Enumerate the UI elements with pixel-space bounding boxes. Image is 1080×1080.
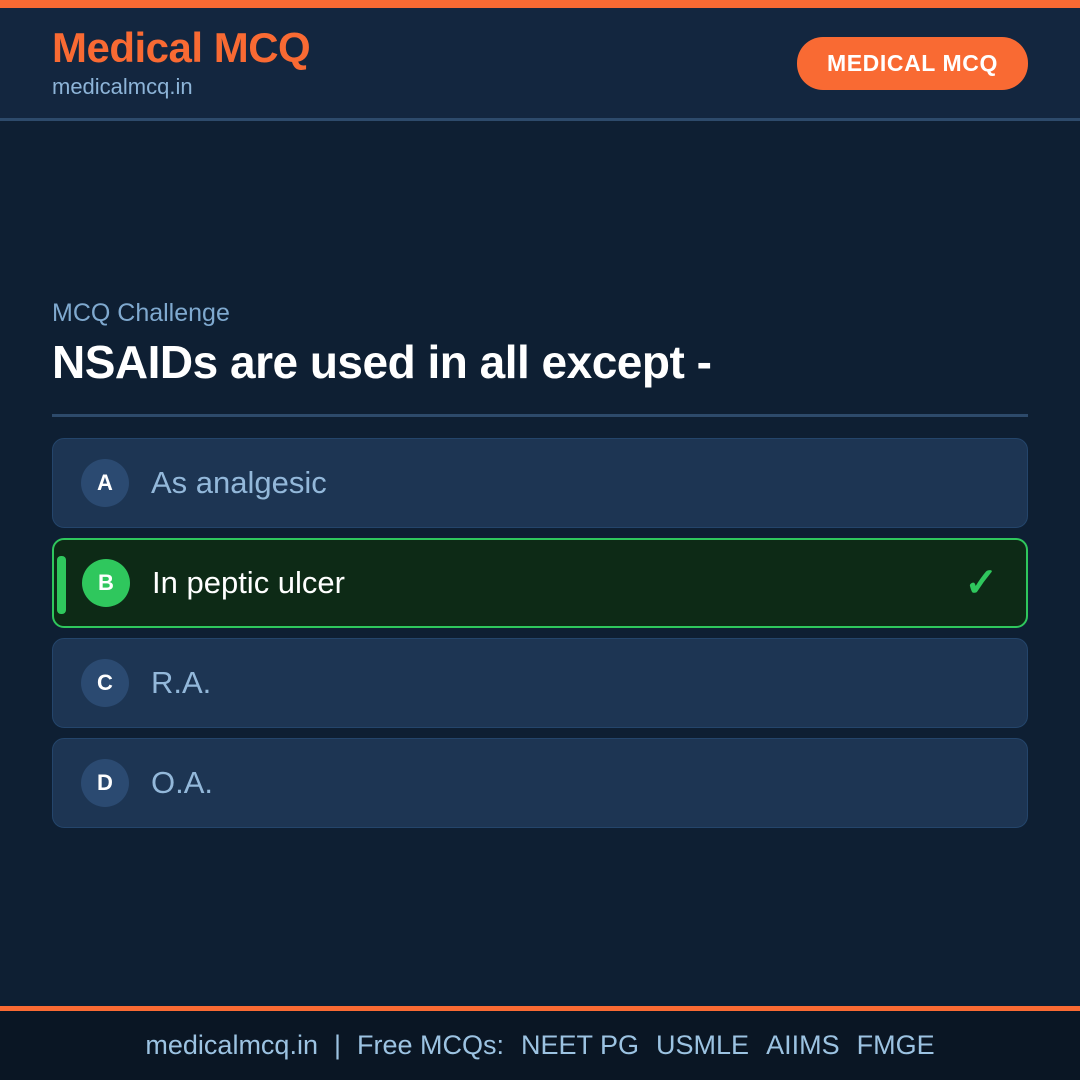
footer-exam-aiims: AIIMS bbox=[766, 1030, 840, 1061]
options-list: A As analgesic B In peptic ulcer ✓ C R.A… bbox=[52, 438, 1028, 828]
option-label: R.A. bbox=[151, 666, 211, 700]
question-divider bbox=[52, 414, 1028, 417]
footer-exam-list: NEET PG USMLE AIIMS FMGE bbox=[521, 1030, 935, 1061]
option-label: As analgesic bbox=[151, 466, 327, 500]
option-label: O.A. bbox=[151, 766, 213, 800]
question-area: MCQ Challenge NSAIDs are used in all exc… bbox=[0, 121, 1080, 1006]
correct-accent-bar bbox=[57, 556, 66, 614]
check-icon: ✓ bbox=[964, 563, 998, 603]
footer-exam-fmge: FMGE bbox=[857, 1030, 935, 1061]
eyebrow-label: MCQ Challenge bbox=[52, 299, 1028, 328]
option-letter-badge: B bbox=[82, 559, 130, 607]
footer-label: Free MCQs: bbox=[357, 1030, 504, 1061]
footer-separator: | bbox=[318, 1030, 357, 1061]
page-footer: medicalmcq.in | Free MCQs: NEET PG USMLE… bbox=[0, 1011, 1080, 1080]
option-label: In peptic ulcer bbox=[152, 566, 345, 600]
footer-site: medicalmcq.in bbox=[145, 1030, 318, 1061]
option-letter-badge: D bbox=[81, 759, 129, 807]
mcq-card: Medical MCQ medicalmcq.in MEDICAL MCQ MC… bbox=[0, 0, 1080, 1080]
brand-badge: MEDICAL MCQ bbox=[797, 37, 1028, 90]
footer-exam-usmle: USMLE bbox=[656, 1030, 749, 1061]
question-text: NSAIDs are used in all except - bbox=[52, 336, 1028, 389]
option-c[interactable]: C R.A. bbox=[52, 638, 1028, 728]
brand-subtitle: medicalmcq.in bbox=[52, 73, 310, 101]
option-a[interactable]: A As analgesic bbox=[52, 438, 1028, 528]
option-d[interactable]: D O.A. bbox=[52, 738, 1028, 828]
brand: Medical MCQ medicalmcq.in bbox=[52, 26, 310, 100]
option-letter-badge: C bbox=[81, 659, 129, 707]
page-header: Medical MCQ medicalmcq.in MEDICAL MCQ bbox=[0, 8, 1080, 121]
option-letter-badge: A bbox=[81, 459, 129, 507]
footer-exam-neet-pg: NEET PG bbox=[521, 1030, 639, 1061]
top-accent-bar bbox=[0, 0, 1080, 8]
option-b[interactable]: B In peptic ulcer ✓ bbox=[52, 538, 1028, 628]
brand-title: Medical MCQ bbox=[52, 26, 310, 71]
